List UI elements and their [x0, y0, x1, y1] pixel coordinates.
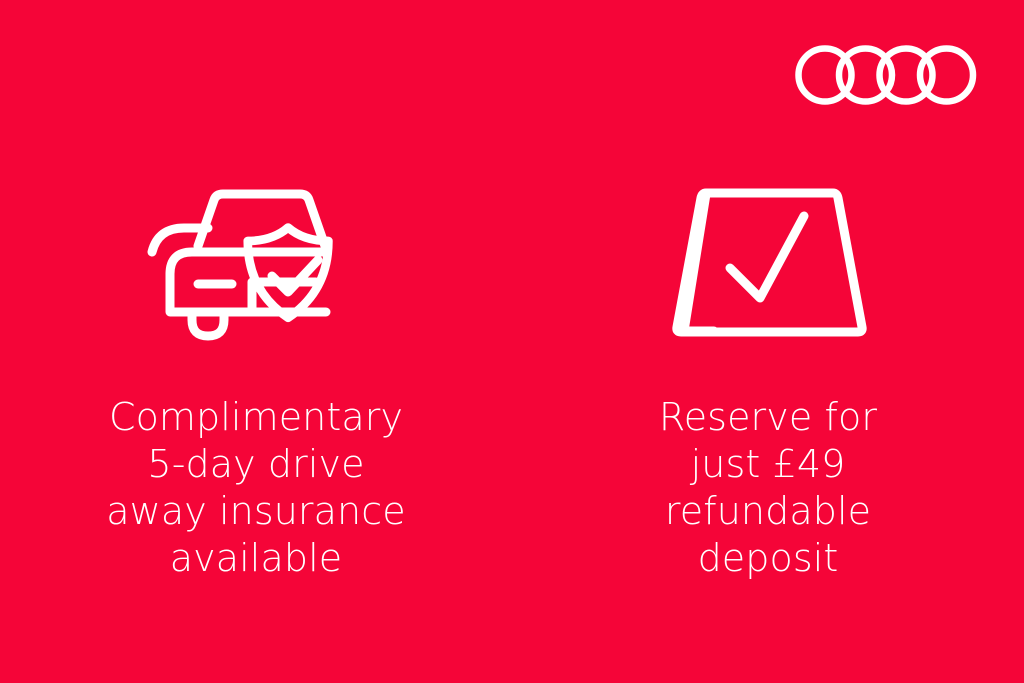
feature-deposit: Reserve for just £49 refundable deposit [512, 0, 1024, 582]
car-shield-icon [140, 178, 372, 344]
feature-list: Complimentary 5-day drive away insurance… [0, 0, 1024, 683]
feature-insurance: Complimentary 5-day drive away insurance… [0, 0, 512, 582]
feature-deposit-text: Reserve for just £49 refundable deposit [603, 394, 933, 582]
sign-check-icon [666, 178, 870, 344]
feature-insurance-text: Complimentary 5-day drive away insurance… [56, 394, 456, 582]
promo-banner: Complimentary 5-day drive away insurance… [0, 0, 1024, 683]
